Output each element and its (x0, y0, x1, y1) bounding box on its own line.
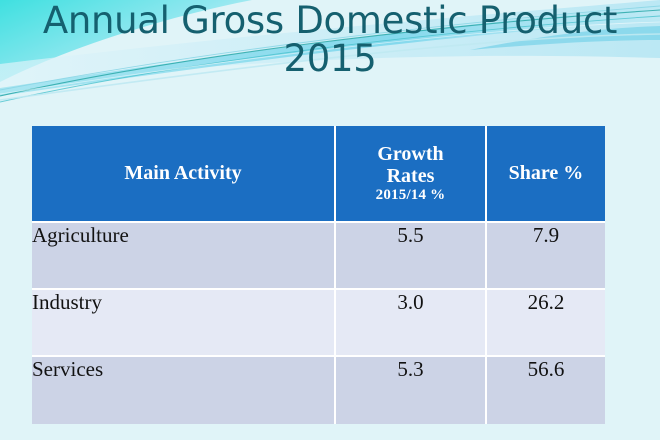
table-row: Industry 3.0 26.2 (32, 290, 605, 357)
page-title-line1: Annual Gross Domestic Product (0, 2, 660, 40)
table-row: Services 5.3 56.6 (32, 357, 605, 424)
page-title-line2: 2015 (0, 40, 660, 78)
cell-activity: Industry (32, 290, 336, 357)
cell-share: 7.9 (487, 223, 605, 290)
growth-header-line2: Rates (387, 165, 435, 187)
table-header: Main Activity Growth Rates 2015/14 % Sha… (32, 126, 605, 223)
cell-growth: 5.5 (336, 223, 487, 290)
cell-share: 26.2 (487, 290, 605, 357)
cell-growth: 5.3 (336, 357, 487, 424)
cell-growth: 3.0 (336, 290, 487, 357)
cell-activity: Services (32, 357, 336, 424)
table-body: Agriculture 5.5 7.9 Industry 3.0 26.2 Se… (32, 223, 605, 424)
cell-activity: Agriculture (32, 223, 336, 290)
gdp-table: Main Activity Growth Rates 2015/14 % Sha… (32, 126, 605, 424)
growth-header-line3: 2015/14 % (336, 187, 485, 204)
column-header-main-activity: Main Activity (32, 126, 336, 223)
column-header-growth-rates: Growth Rates 2015/14 % (336, 126, 487, 223)
column-header-share: Share % (487, 126, 605, 223)
cell-share: 56.6 (487, 357, 605, 424)
table-row: Agriculture 5.5 7.9 (32, 223, 605, 290)
table-header-row: Main Activity Growth Rates 2015/14 % Sha… (32, 126, 605, 223)
page-title: Annual Gross Domestic Product 2015 (0, 2, 660, 79)
growth-header-line1: Growth (377, 143, 443, 165)
